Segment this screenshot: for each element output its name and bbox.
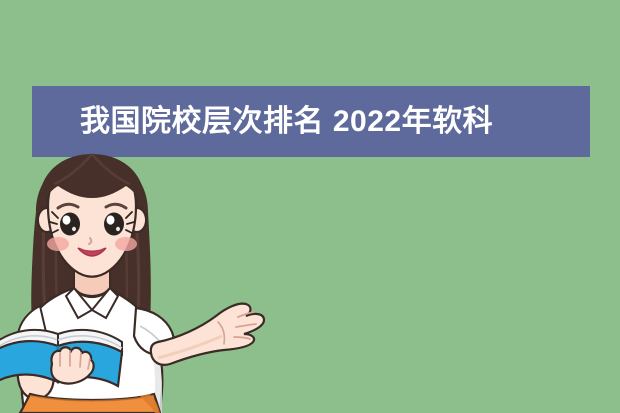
title-banner: 我国院校层次排名 2022年软科 (32, 86, 590, 157)
eye-right-highlight (107, 215, 115, 224)
page-title: 我国院校层次排名 2022年软科 (80, 107, 493, 137)
eye-left-highlight (63, 215, 71, 224)
student-illustration (0, 150, 280, 413)
cheek-right (115, 237, 137, 251)
eye-right-highlight-small (116, 227, 120, 231)
eye-left (60, 213, 80, 236)
eye-right (104, 213, 124, 236)
poster-canvas: 我国院校层次排名 2022年软科 (0, 0, 620, 413)
cheek-left (47, 237, 69, 251)
hand-left (51, 347, 93, 383)
eye-left-highlight-small (72, 227, 76, 231)
